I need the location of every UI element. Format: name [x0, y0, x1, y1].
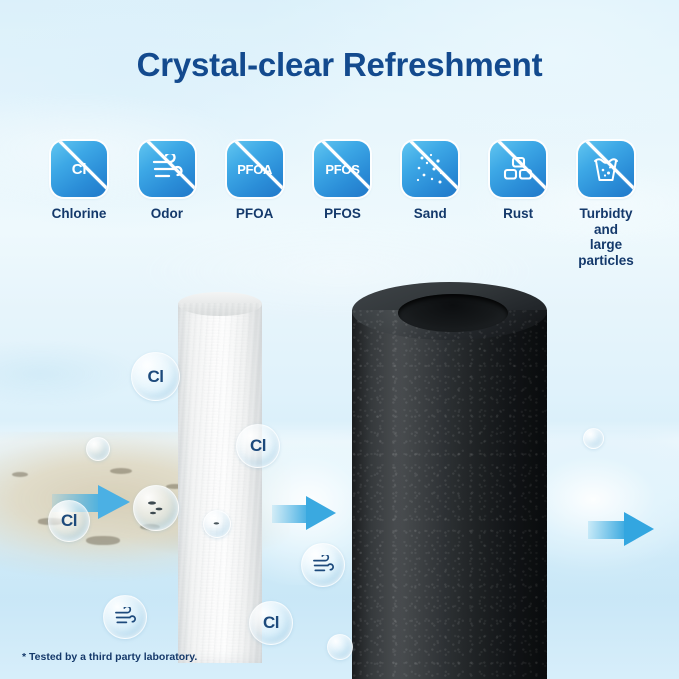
- particles-icon: [143, 495, 169, 521]
- bubble-label: Cl: [148, 367, 164, 387]
- bubble-particles-2: [203, 510, 231, 538]
- carbon-block-shading: [352, 310, 547, 679]
- bubble-chlorine-1: Cl: [131, 352, 180, 401]
- bubble-chlorine-2: Cl: [236, 424, 280, 468]
- particles-icon: [209, 516, 225, 532]
- sediment-filter-cartridge: [178, 303, 262, 663]
- carbon-block-filter: [352, 310, 547, 679]
- bubble-chlorine-4: Cl: [249, 601, 293, 645]
- sediment-filter-texture: [178, 303, 262, 663]
- odor-waves-icon: [311, 555, 335, 576]
- carbon-block-bore: [398, 294, 508, 332]
- footnote-disclaimer: * Tested by a third party laboratory.: [22, 651, 197, 663]
- product-feature-image: Crystal-clear Refreshment Cl Chlorine: [0, 0, 679, 679]
- bubble-label: Cl: [61, 511, 77, 531]
- filtration-scene: Cl Cl Cl Cl: [0, 0, 679, 679]
- bubble-odor-1: [301, 543, 345, 587]
- bubble-label: Cl: [250, 436, 266, 456]
- bubble-odor-2: [103, 595, 147, 639]
- bubble-chlorine-3: Cl: [48, 500, 90, 542]
- bubble-small-2: [583, 428, 604, 449]
- bubble-label: Cl: [263, 613, 279, 633]
- bubble-particles-1: [133, 485, 179, 531]
- bubble-small-1: [86, 437, 110, 461]
- bubble-small-3: [327, 634, 353, 660]
- odor-waves-icon: [113, 607, 137, 628]
